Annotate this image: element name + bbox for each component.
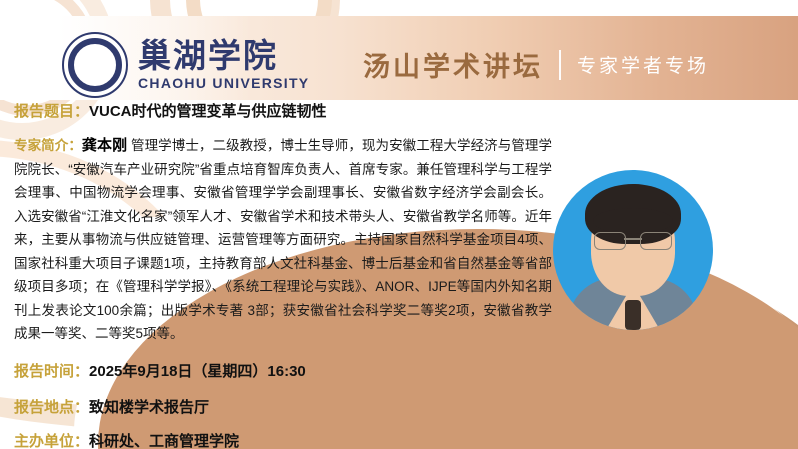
- portrait-glasses-icon: [594, 232, 672, 248]
- report-organizer-row: 主办单位：科研处、工商管理学院: [14, 430, 239, 449]
- university-brand: 巢 巢湖学院 CHAOHU UNIVERSITY: [62, 32, 309, 98]
- glasses-right-lens: [640, 232, 672, 250]
- header-title-group: 汤山学术讲坛 专家学者专场: [363, 45, 709, 84]
- report-organizer-label: 主办单位：: [14, 433, 89, 449]
- title-separator: [559, 50, 561, 80]
- speaker-portrait: [553, 170, 713, 330]
- lecture-poster: 巢 巢湖学院 CHAOHU UNIVERSITY 汤山学术讲坛 专家学者专场 报…: [0, 0, 798, 449]
- bio-label: 专家简介：: [14, 138, 82, 153]
- report-time-value: 2025年9月18日（星期四）16:30: [89, 363, 306, 380]
- forum-subtitle: 专家学者专场: [577, 51, 709, 78]
- report-title-value: VUCA时代的管理变革与供应链韧性: [89, 103, 327, 120]
- seal-glyph: 巢: [83, 53, 107, 77]
- report-venue-value: 致知楼学术报告厅: [89, 399, 209, 416]
- bio-text: 管理学博士，二级教授，博士生导师，现为安徽工程大学经济与管理学院院长、“安徽汽车…: [14, 138, 552, 341]
- report-venue-label: 报告地点：: [14, 399, 89, 416]
- glasses-left-lens: [594, 232, 626, 250]
- chaohu-university-seal-icon: 巢: [62, 32, 128, 98]
- university-name-en: CHAOHU UNIVERSITY: [138, 75, 309, 91]
- report-venue-row: 报告地点：致知楼学术报告厅: [14, 396, 209, 417]
- portrait-tie: [625, 300, 641, 330]
- report-organizer-value: 科研处、工商管理学院: [89, 433, 239, 449]
- report-time-label: 报告时间：: [14, 363, 89, 380]
- speaker-name: 龚本刚: [82, 137, 127, 154]
- report-title-row: 报告题目：VUCA时代的管理变革与供应链韧性: [14, 100, 327, 121]
- forum-title: 汤山学术讲坛: [363, 45, 543, 84]
- speaker-bio: 专家简介：龚本刚 管理学博士，二级教授，博士生导师，现为安徽工程大学经济与管理学…: [14, 134, 552, 346]
- report-title-label: 报告题目：: [14, 103, 89, 120]
- report-time-row: 报告时间：2025年9月18日（星期四）16:30: [14, 360, 306, 381]
- university-name-cn: 巢湖学院: [138, 39, 309, 74]
- brand-names: 巢湖学院 CHAOHU UNIVERSITY: [138, 39, 309, 92]
